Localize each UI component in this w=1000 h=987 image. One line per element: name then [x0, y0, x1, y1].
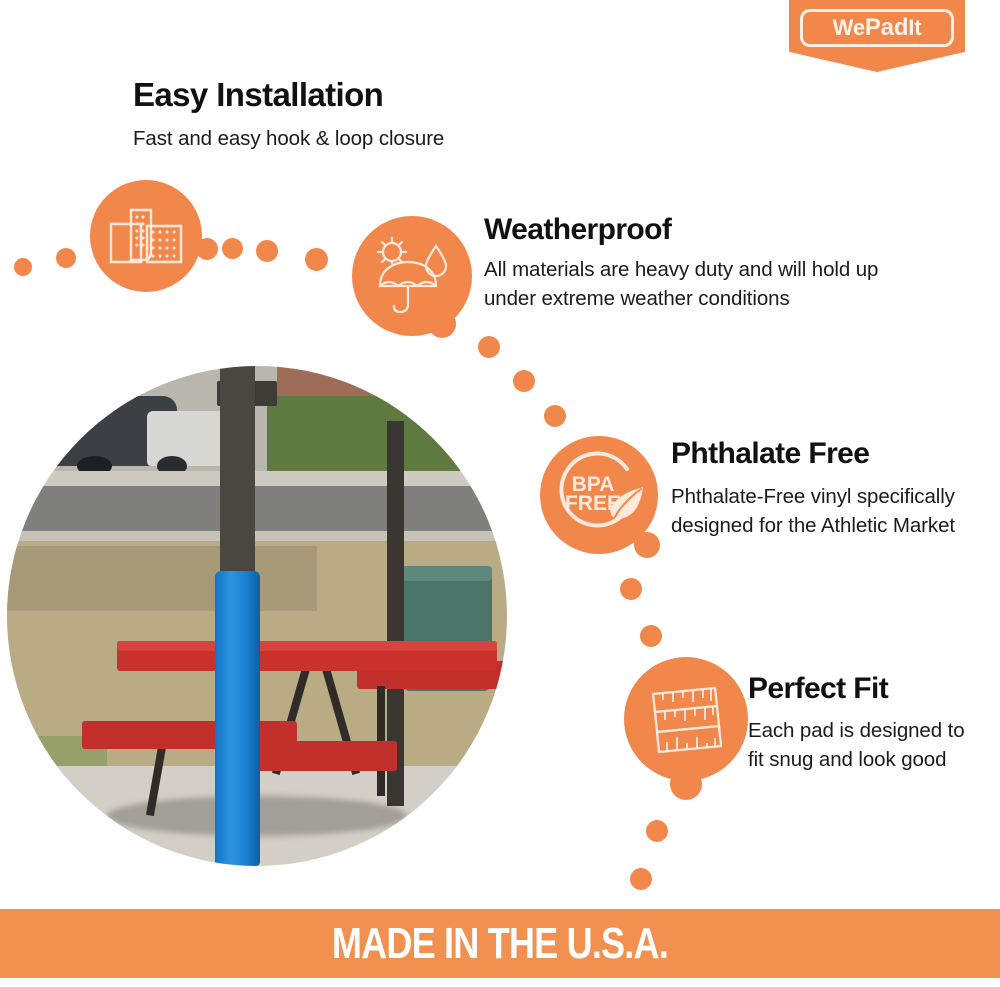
feature-description-phthalate-free: Phthalate-Free vinyl specifically design… — [671, 482, 971, 540]
feature-description-perfect-fit: Each pad is designed to fit snug and loo… — [748, 716, 983, 774]
path-dot — [222, 238, 243, 259]
path-dot — [620, 578, 642, 600]
feature-description-easy-installation: Fast and easy hook & loop closure — [133, 124, 603, 153]
path-dot — [544, 405, 566, 427]
brand-logo: WePadIt — [789, 0, 965, 72]
logo-border-frame: WePadIt — [800, 9, 954, 47]
product-photo — [7, 366, 507, 866]
path-dot — [630, 868, 652, 890]
hook-and-loop-icon — [90, 180, 202, 292]
path-dot — [513, 370, 535, 392]
path-dot — [305, 248, 328, 271]
logo-text-it: It — [908, 15, 921, 40]
logo-text-pad: Pad — [865, 14, 908, 41]
logo-text-we: We — [833, 15, 865, 40]
path-dot — [646, 820, 668, 842]
feature-title-easy-installation: Easy Installation — [133, 78, 383, 113]
feature-title-perfect-fit: Perfect Fit — [748, 673, 888, 705]
umbrella-sun-rain-icon — [352, 216, 472, 336]
logo-text: WePadIt — [833, 16, 922, 40]
feature-description-weatherproof: All materials are heavy duty and will ho… — [484, 255, 914, 313]
path-dot — [256, 240, 278, 262]
path-dot — [640, 625, 662, 647]
path-dot — [56, 248, 76, 268]
measuring-tape-icon — [624, 657, 748, 781]
path-dot — [478, 336, 500, 358]
blue-pole-pad — [215, 571, 260, 866]
feature-title-phthalate-free: Phthalate Free — [671, 438, 869, 470]
bpa-free-leaf-icon: BPA FREE — [540, 436, 658, 554]
made-in-usa-text: MADE IN THE U.S.A. — [332, 919, 668, 969]
path-dot — [14, 258, 32, 276]
feature-title-weatherproof: Weatherproof — [484, 214, 671, 246]
product-feature-infographic: WePadIt Easy Installation Fast and easy … — [0, 0, 1000, 987]
made-in-usa-banner: MADE IN THE U.S.A. — [0, 909, 1000, 978]
